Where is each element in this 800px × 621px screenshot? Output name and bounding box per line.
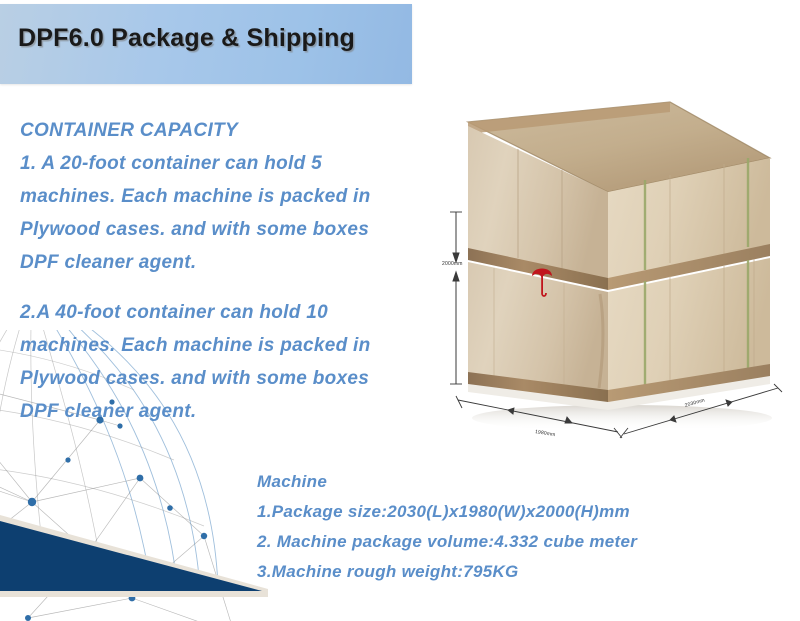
title-banner: DPF6.0 Package & Shipping xyxy=(0,4,412,84)
machine-spec-rough-weight: 3.Machine rough weight:795KG xyxy=(257,557,797,587)
machine-spec-package-volume: 2. Machine package volume:4.332 cube met… xyxy=(257,527,797,557)
machine-spec-block: Machine 1.Package size:2030(L)x1980(W)x2… xyxy=(257,467,797,587)
capacity-item2-line1: 2.A 40-foot container can hold 10 xyxy=(20,296,460,329)
crate-height-dimension-label: 2000mm xyxy=(442,261,463,267)
plywood-crate-photo: 2000mm 1980mm 2030mm xyxy=(432,96,794,464)
capacity-item2-line4: DPF cleaner agent. xyxy=(20,395,460,428)
page-title: DPF6.0 Package & Shipping xyxy=(18,24,355,53)
capacity-item2-line2: machines. Each machine is packed in xyxy=(20,329,460,362)
container-capacity-block-2: 2.A 40-foot container can hold 10 machin… xyxy=(20,296,460,428)
capacity-heading: CONTAINER CAPACITY xyxy=(20,114,460,147)
container-capacity-block: CONTAINER CAPACITY 1. A 20-foot containe… xyxy=(20,114,460,279)
slide-canvas: DPF6.0 Package & Shipping xyxy=(0,0,800,621)
machine-heading: Machine xyxy=(257,467,797,497)
capacity-item1-line1: 1. A 20-foot container can hold 5 xyxy=(20,147,460,180)
capacity-item1-line2: machines. Each machine is packed in xyxy=(20,180,460,213)
capacity-item1-line4: DPF cleaner agent. xyxy=(20,246,460,279)
capacity-item1-line3: Plywood cases. and with some boxes xyxy=(20,213,460,246)
capacity-item2-line3: Plywood cases. and with some boxes xyxy=(20,362,460,395)
navy-corner-wedge xyxy=(0,505,268,597)
machine-spec-package-size: 1.Package size:2030(L)x1980(W)x2000(H)mm xyxy=(257,497,797,527)
